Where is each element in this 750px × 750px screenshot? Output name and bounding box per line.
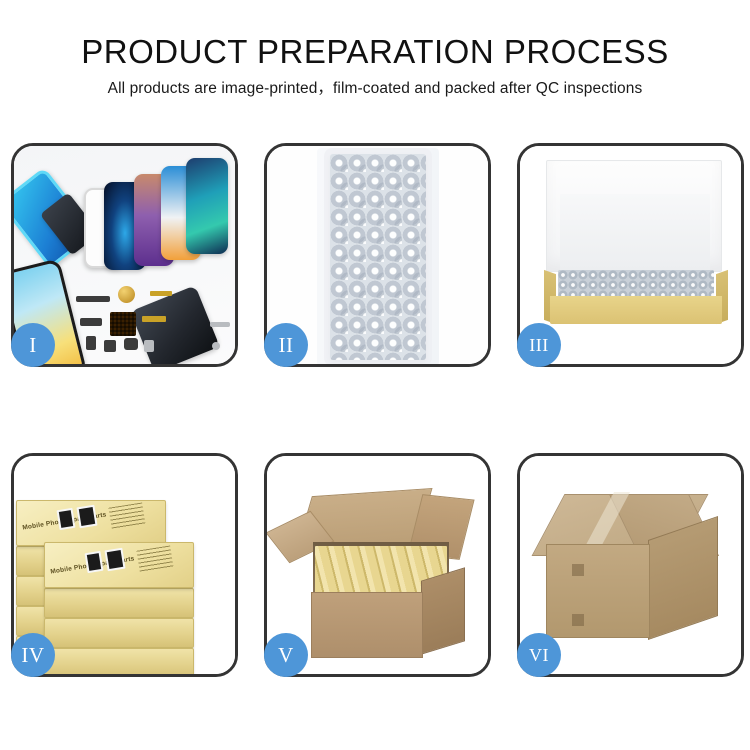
metal-bracket-icon [144, 340, 154, 352]
step-1-panel[interactable]: I [11, 143, 238, 367]
phone-display-green-icon [186, 158, 228, 254]
gold-connector-icon [150, 291, 172, 296]
step-4-badge: IV [11, 633, 55, 677]
process-steps-grid: I II [11, 143, 745, 677]
step-1-badge: I [11, 323, 55, 367]
step-3-badge: III [517, 323, 561, 367]
page-subtitle: All products are image-printed，film-coat… [0, 79, 750, 99]
step-6-badge: VI [517, 633, 561, 677]
box-front-icon [550, 296, 722, 324]
foam-insert-icon [560, 194, 710, 272]
carton-seam-icon [572, 614, 584, 626]
speaker-coil-icon [118, 286, 135, 303]
step-2-badge: II [264, 323, 308, 367]
step-5-panel[interactable]: V [264, 453, 491, 677]
chip-grid-icon [110, 312, 136, 336]
battery-tab-icon [124, 338, 138, 350]
page-title: PRODUCT PREPARATION PROCESS [0, 32, 750, 72]
header: PRODUCT PREPARATION PROCESS All products… [0, 32, 750, 99]
carton-front-panel-icon [546, 544, 650, 638]
step-2-panel[interactable]: II [264, 143, 491, 367]
tool-icon [210, 322, 230, 327]
step-4-panel[interactable]: Mobile Phone Spare Parts Mobile Phone Sp… [11, 453, 238, 677]
product-preparation-infographic: PRODUCT PREPARATION PROCESS All products… [0, 0, 750, 750]
bubble-wrapped-contents-icon [558, 270, 714, 298]
step-6-panel[interactable]: VI [517, 453, 744, 677]
flex-cable-icon [76, 296, 110, 302]
carton-side-icon [421, 567, 465, 654]
vibrator-icon [104, 340, 116, 352]
screw-icon [212, 342, 220, 350]
small-part-icon [80, 318, 102, 326]
step-3-panel[interactable]: III [517, 143, 744, 367]
carton-handle-slot-icon [572, 564, 584, 576]
carton-front-icon [311, 592, 423, 658]
step-5-badge: V [264, 633, 308, 677]
camera-module-icon [86, 336, 96, 350]
gold-flex-icon [142, 316, 166, 322]
bubble-wrap-icon [330, 154, 426, 360]
